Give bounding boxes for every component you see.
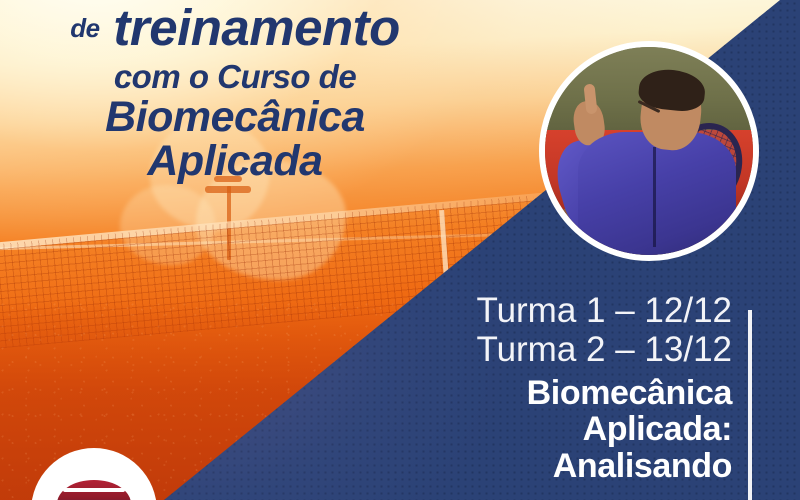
headline-line-4: Aplicada	[0, 140, 470, 183]
headline-line-1-main: treinamento	[113, 0, 399, 56]
headline-line-2: com o Curso de	[0, 60, 470, 93]
court-light-fixture-icon	[205, 186, 251, 193]
speaker-portrait-circle	[539, 41, 759, 261]
logo-stripe	[63, 488, 125, 492]
portrait-photo	[545, 47, 753, 255]
jacket-zipper	[653, 147, 656, 247]
vertical-divider-rule	[748, 310, 752, 500]
promotional-banner: p de treinamento com o Curso de Biomecân…	[0, 0, 800, 500]
class-2-date: Turma 2 – 13/12	[400, 331, 732, 370]
headline-line-3: Biomecânica	[0, 96, 470, 139]
course-title-line-2: Aplicada:	[400, 411, 732, 447]
headline-line-1-prefix: de	[70, 13, 100, 43]
course-title-line-3: Analisando	[400, 448, 732, 484]
course-info-block: Turma 1 – 12/12 Turma 2 – 13/12 Biomecân…	[400, 292, 732, 484]
course-title-line-1: Biomecânica	[400, 375, 732, 411]
class-1-date: Turma 1 – 12/12	[400, 292, 732, 331]
headline-block: p de treinamento com o Curso de Biomecân…	[0, 0, 470, 183]
headline-line-1: de treinamento	[0, 2, 470, 53]
speaker-blue-jacket	[578, 132, 736, 261]
